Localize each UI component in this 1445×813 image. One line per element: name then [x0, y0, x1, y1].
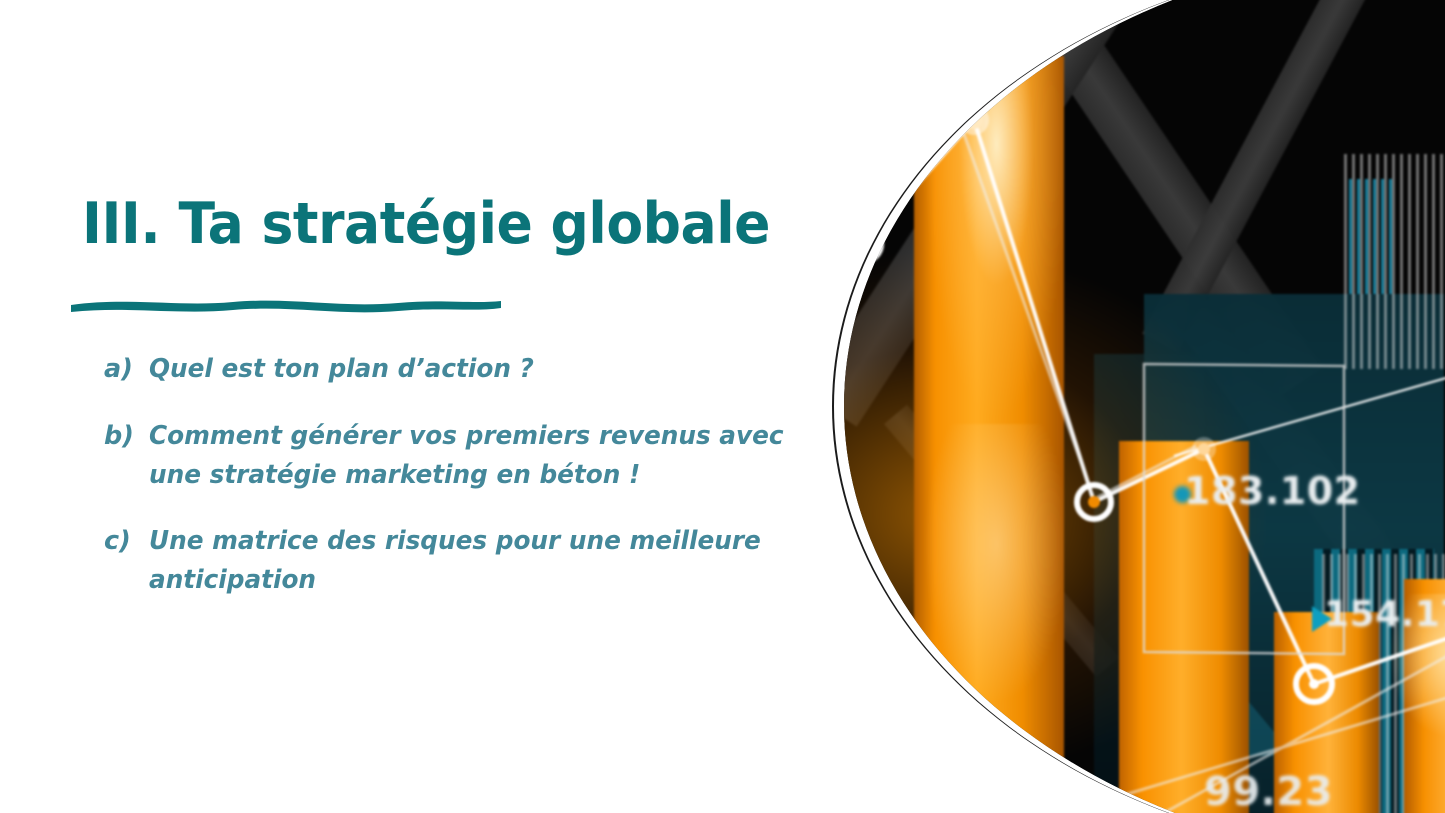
text-column: III. Ta stratégie globale a) Quel est to… — [0, 0, 830, 813]
list-item: a) Quel est ton plan d’action ? — [104, 350, 804, 389]
value-label-1: 183.102 — [1184, 469, 1361, 513]
list-item: b) Comment générer vos premiers revenus … — [104, 417, 804, 495]
slide: III. Ta stratégie globale a) Quel est to… — [0, 0, 1445, 813]
value-label-2: 154.17 — [1324, 594, 1445, 635]
decorative-artwork: 183.102 154.17 99.23 — [820, 0, 1445, 813]
list-item-marker: c) — [104, 522, 149, 561]
page-title: III. Ta stratégie globale — [82, 196, 770, 253]
list-item-text: Comment générer vos premiers revenus ave… — [149, 417, 784, 495]
list-item-text: Quel est ton plan d’action ? — [149, 350, 784, 389]
list-item: c) Une matrice des risques pour une meil… — [104, 522, 804, 600]
line-marker — [1077, 485, 1111, 519]
bullet-list: a) Quel est ton plan d’action ? b) Comme… — [104, 350, 804, 628]
list-item-text: Une matrice des risques pour une meilleu… — [149, 522, 784, 600]
line-marker — [1296, 666, 1332, 702]
title-underline-stroke — [68, 288, 504, 316]
line-marker — [1192, 437, 1216, 461]
list-item-marker: b) — [104, 417, 149, 456]
value-label-3: 99.23 — [1204, 769, 1333, 813]
list-item-marker: a) — [104, 350, 149, 389]
